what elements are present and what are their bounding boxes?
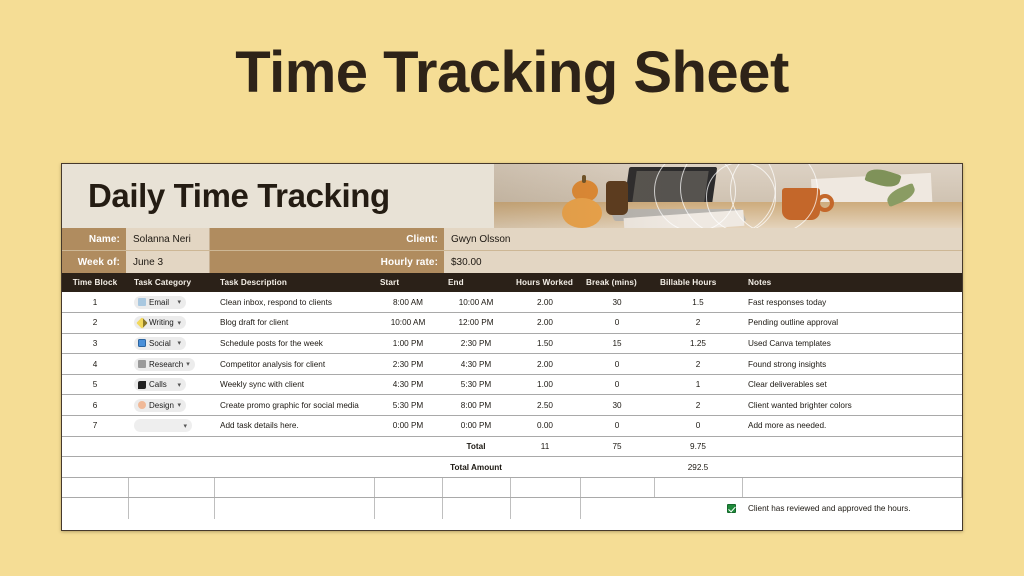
banner-photo xyxy=(494,164,962,228)
total-amount-label: Total Amount xyxy=(442,457,510,478)
category-dropdown[interactable]: Email ▾ xyxy=(134,296,186,309)
time-entries-table: Time Block Task Category Task Descriptio… xyxy=(62,273,962,519)
th-task-category[interactable]: Task Category xyxy=(128,273,214,292)
page-title: Time Tracking Sheet xyxy=(0,0,1024,102)
category-label: Design xyxy=(149,401,174,410)
amount-gray-b xyxy=(580,457,654,478)
cell-start[interactable]: 5:30 PM xyxy=(374,395,442,416)
blank-cell[interactable] xyxy=(214,498,374,519)
name-label: Name: xyxy=(62,228,126,250)
th-time-block[interactable]: Time Block xyxy=(62,273,128,292)
category-dropdown[interactable]: Writing ▾ xyxy=(134,316,186,329)
chevron-down-icon: ▾ xyxy=(177,401,181,409)
total-amount-value: 292.5 xyxy=(654,457,742,478)
cell-break[interactable]: 0 xyxy=(580,416,654,437)
amount-spacer xyxy=(62,457,442,478)
cell-task-description[interactable]: Add task details here. xyxy=(214,416,374,437)
blank-cell[interactable] xyxy=(580,477,654,498)
cell-break[interactable]: 30 xyxy=(580,395,654,416)
cell-time-block[interactable]: 5 xyxy=(62,374,128,395)
cell-task-category[interactable]: Research ▾ xyxy=(128,354,214,375)
totals-notes-spacer xyxy=(742,436,962,457)
cell-task-description[interactable]: Clean inbox, respond to clients xyxy=(214,292,374,313)
week-label: Week of: xyxy=(62,251,126,273)
pencil-icon xyxy=(136,317,147,328)
amount-gray-a xyxy=(510,457,580,478)
category-dropdown[interactable]: Social ▾ xyxy=(134,337,186,350)
cell-task-description[interactable]: Competitor analysis for client xyxy=(214,354,374,375)
photo-shading xyxy=(494,164,962,228)
chevron-down-icon: ▾ xyxy=(177,381,181,389)
blank-cell[interactable] xyxy=(654,477,742,498)
blank-cell[interactable] xyxy=(442,498,510,519)
blank-cell[interactable] xyxy=(510,498,580,519)
total-break-value: 75 xyxy=(580,436,654,457)
cell-notes[interactable]: Client wanted brighter colors xyxy=(742,395,962,416)
approval-text: Client has reviewed and approved the hou… xyxy=(742,498,962,519)
cell-notes[interactable]: Clear deliverables set xyxy=(742,374,962,395)
chevron-down-icon: ▾ xyxy=(183,422,187,430)
th-hours-worked[interactable]: Hours Worked xyxy=(510,273,580,292)
cell-billable-hours[interactable]: 2 xyxy=(654,354,742,375)
envelope-icon xyxy=(138,298,146,306)
cell-break[interactable]: 0 xyxy=(580,354,654,375)
time-tracking-sheet: Daily Time Tracking Name: S xyxy=(61,163,963,531)
banner-title: Daily Time Tracking xyxy=(88,177,390,215)
chevron-down-icon: ▾ xyxy=(177,298,181,306)
cell-start[interactable]: 0:00 PM xyxy=(374,416,442,437)
cell-end[interactable]: 0:00 PM xyxy=(442,416,510,437)
hourly-rate-value[interactable]: $30.00 xyxy=(444,251,962,273)
cell-notes[interactable]: Found strong insights xyxy=(742,354,962,375)
category-label: Research xyxy=(149,360,183,369)
cell-end[interactable]: 4:30 PM xyxy=(442,354,510,375)
cell-hours-worked[interactable]: 2.50 xyxy=(510,395,580,416)
sheet-banner: Daily Time Tracking xyxy=(62,164,962,228)
blank-cell[interactable] xyxy=(510,477,580,498)
category-dropdown[interactable]: Calls ▾ xyxy=(134,378,186,391)
blank-cell[interactable] xyxy=(442,477,510,498)
blank-cell[interactable] xyxy=(62,498,128,519)
cell-time-block[interactable]: 3 xyxy=(62,333,128,354)
table-row: 2 Writing ▾ Blog draft for client 10:00 … xyxy=(62,313,962,334)
amount-notes-spacer xyxy=(742,457,962,478)
cell-start[interactable]: 1:00 PM xyxy=(374,333,442,354)
blank-cell[interactable] xyxy=(128,477,214,498)
cell-end[interactable]: 12:00 PM xyxy=(442,313,510,334)
cell-time-block[interactable]: 7 xyxy=(62,416,128,437)
total-hours-value: 11 xyxy=(510,436,580,457)
cell-task-category[interactable]: Writing ▾ xyxy=(128,313,214,334)
banner-title-cell: Daily Time Tracking xyxy=(62,164,494,228)
chevron-down-icon: ▾ xyxy=(177,339,181,347)
cell-task-description[interactable]: Blog draft for client xyxy=(214,313,374,334)
approval-checkbox-cell[interactable] xyxy=(580,498,742,519)
palette-icon xyxy=(138,401,146,409)
cell-notes[interactable]: Used Canva templates xyxy=(742,333,962,354)
category-dropdown[interactable]: Research ▾ xyxy=(134,358,195,371)
cell-break[interactable]: 30 xyxy=(580,292,654,313)
hourly-rate-label: Hourly rate: xyxy=(210,251,444,273)
cell-billable-hours[interactable]: 2 xyxy=(654,313,742,334)
mobile-phone-icon xyxy=(138,339,146,347)
cell-task-description[interactable]: Weekly sync with client xyxy=(214,374,374,395)
client-label: Client: xyxy=(210,228,444,250)
th-start[interactable]: Start xyxy=(374,273,442,292)
table-row: 4 Research ▾ Competitor analysis for cli… xyxy=(62,354,962,375)
cell-end[interactable]: 10:00 AM xyxy=(442,292,510,313)
category-label: Writing xyxy=(149,318,174,327)
th-end[interactable]: End xyxy=(442,273,510,292)
approval-checkbox-icon[interactable] xyxy=(727,504,736,513)
table-header-row: Time Block Task Category Task Descriptio… xyxy=(62,273,962,292)
totals-row: Total 11 75 9.75 xyxy=(62,436,962,457)
name-value[interactable]: Solanna Neri xyxy=(126,228,210,250)
cell-start[interactable]: 8:00 AM xyxy=(374,292,442,313)
cell-notes[interactable]: Pending outline approval xyxy=(742,313,962,334)
telephone-icon xyxy=(138,381,146,389)
cell-hours-worked[interactable]: 1.00 xyxy=(510,374,580,395)
chevron-down-icon: ▾ xyxy=(177,319,181,327)
cell-time-block[interactable]: 4 xyxy=(62,354,128,375)
cell-hours-worked[interactable]: 2.00 xyxy=(510,354,580,375)
approval-row: Client has reviewed and approved the hou… xyxy=(62,498,962,519)
chevron-down-icon: ▾ xyxy=(186,360,190,368)
th-task-description[interactable]: Task Description xyxy=(214,273,374,292)
cell-time-block[interactable]: 6 xyxy=(62,395,128,416)
cell-end[interactable]: 8:00 PM xyxy=(442,395,510,416)
cell-billable-hours[interactable]: 2 xyxy=(654,395,742,416)
blank-cell[interactable] xyxy=(62,477,128,498)
cell-start[interactable]: 2:30 PM xyxy=(374,354,442,375)
blank-cell[interactable] xyxy=(374,477,442,498)
cell-hours-worked[interactable]: 0.00 xyxy=(510,416,580,437)
category-dropdown[interactable]: ▾ xyxy=(134,419,192,432)
cell-billable-hours[interactable]: 1.5 xyxy=(654,292,742,313)
cell-billable-hours[interactable]: 1 xyxy=(654,374,742,395)
cell-task-category[interactable]: Email ▾ xyxy=(128,292,214,313)
cell-notes[interactable]: Add more as needed. xyxy=(742,416,962,437)
table-row: 7 ▾ Add task details here. 0:00 PM 0:00 … xyxy=(62,416,962,437)
th-notes[interactable]: Notes xyxy=(742,273,962,292)
client-value[interactable]: Gwyn Olsson xyxy=(444,228,962,250)
cell-billable-hours[interactable]: 0 xyxy=(654,416,742,437)
table-row: 6 Design ▾ Create promo graphic for soci… xyxy=(62,395,962,416)
cell-time-block[interactable]: 1 xyxy=(62,292,128,313)
cell-time-block[interactable]: 2 xyxy=(62,313,128,334)
blank-cell[interactable] xyxy=(742,477,962,498)
week-value[interactable]: June 3 xyxy=(126,251,210,273)
chart-icon xyxy=(138,360,146,368)
table-row: 5 Calls ▾ Weekly sync with client 4:30 P… xyxy=(62,374,962,395)
cell-task-category[interactable]: Design ▾ xyxy=(128,395,214,416)
blank-cell[interactable] xyxy=(214,477,374,498)
cell-task-category[interactable]: Social ▾ xyxy=(128,333,214,354)
category-dropdown[interactable]: Design ▾ xyxy=(134,399,186,412)
category-label: Social xyxy=(149,339,174,348)
blank-cell[interactable] xyxy=(128,498,214,519)
total-billable-value: 9.75 xyxy=(654,436,742,457)
cell-task-category[interactable]: ▾ xyxy=(128,416,214,437)
cell-hours-worked[interactable]: 2.00 xyxy=(510,292,580,313)
cell-end[interactable]: 2:30 PM xyxy=(442,333,510,354)
cell-task-description[interactable]: Create promo graphic for social media xyxy=(214,395,374,416)
blank-cell[interactable] xyxy=(374,498,442,519)
table-row: 1 Email ▾ Clean inbox, respond to client… xyxy=(62,292,962,313)
cell-end[interactable]: 5:30 PM xyxy=(442,374,510,395)
blank-row xyxy=(62,477,962,498)
th-billable-hours[interactable]: Billable Hours xyxy=(654,273,742,292)
cell-task-description[interactable]: Schedule posts for the week xyxy=(214,333,374,354)
info-row-name-client: Name: Solanna Neri Client: Gwyn Olsson xyxy=(62,228,962,250)
table-row: 3 Social ▾ Schedule posts for the week 1… xyxy=(62,333,962,354)
totals-spacer xyxy=(62,436,442,457)
cell-break[interactable]: 15 xyxy=(580,333,654,354)
category-label: Email xyxy=(149,298,174,307)
info-row-week-rate: Week of: June 3 Hourly rate: $30.00 xyxy=(62,251,962,273)
cell-notes[interactable]: Fast responses today xyxy=(742,292,962,313)
cell-hours-worked[interactable]: 2.00 xyxy=(510,313,580,334)
cell-task-category[interactable]: Calls ▾ xyxy=(128,374,214,395)
total-label: Total xyxy=(442,436,510,457)
category-label: Calls xyxy=(149,380,174,389)
cell-billable-hours[interactable]: 1.25 xyxy=(654,333,742,354)
cell-break[interactable]: 0 xyxy=(580,313,654,334)
cell-start[interactable]: 4:30 PM xyxy=(374,374,442,395)
cell-hours-worked[interactable]: 1.50 xyxy=(510,333,580,354)
cell-break[interactable]: 0 xyxy=(580,374,654,395)
th-break-mins[interactable]: Break (mins) xyxy=(580,273,654,292)
total-amount-row: Total Amount 292.5 xyxy=(62,457,962,478)
cell-start[interactable]: 10:00 AM xyxy=(374,313,442,334)
